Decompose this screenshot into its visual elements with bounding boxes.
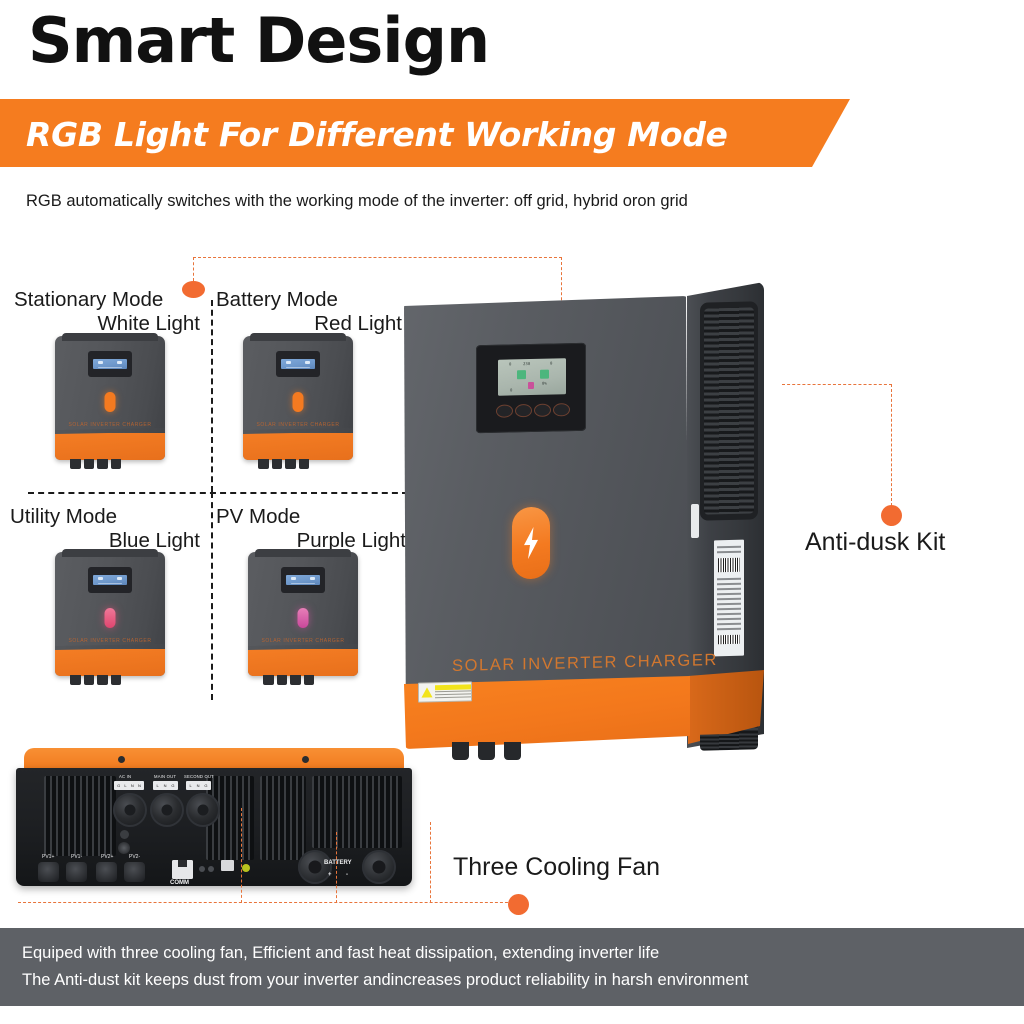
rear-terminal-ac-in: GLNN — [114, 781, 144, 790]
rear-connector-pv2p — [96, 862, 117, 882]
mini-lcd-row — [98, 583, 121, 584]
fan-callout-line-horizontal — [18, 902, 523, 903]
terminal-pin: L — [189, 781, 191, 790]
cooling-fan-2 — [150, 793, 184, 827]
mode-name-pv: PV Mode — [216, 505, 406, 529]
mini-led-indicator — [298, 608, 309, 628]
rear-label-battery: BATTERY — [324, 860, 352, 866]
inverter-control-panel: 0 230 0 0 0% — [476, 343, 586, 433]
rear-port-small-2 — [208, 866, 214, 872]
rear-label-pv1n: PV1- — [71, 854, 82, 860]
callout-line-antidusk-vertical — [891, 384, 892, 506]
rear-terminal-main-out: LNG — [153, 781, 178, 790]
terminal-pin: N — [131, 781, 134, 790]
mini-lcd-row — [286, 367, 309, 368]
mini-orange-strip — [243, 433, 353, 460]
mini-inverter-battery: SOLAR INVERTER CHARGER — [243, 336, 353, 460]
fan-callout-line-3 — [430, 822, 431, 903]
callout-dot-antidusk — [881, 505, 902, 526]
mini-brand-text: SOLAR INVERTER CHARGER — [55, 638, 165, 644]
mini-connectors — [258, 459, 309, 469]
mini-lcd-screen — [281, 359, 315, 370]
mini-connectors — [263, 675, 314, 685]
terminal-pin: N — [138, 781, 141, 790]
inverter-button-up[interactable] — [496, 404, 513, 417]
mode-name-utility: Utility Mode — [10, 505, 200, 529]
subtitle-text: RGB automatically switches with the work… — [26, 192, 688, 211]
mode-name-battery: Battery Mode — [216, 288, 402, 312]
product-spec-label — [714, 540, 744, 657]
mode-label-utility: Utility Mode Blue Light — [10, 505, 200, 553]
footer-line-1: Equiped with three cooling fan, Efficien… — [22, 940, 1024, 967]
rear-label-pv2p: PV2+ — [101, 854, 113, 860]
rear-port-ground — [120, 830, 129, 839]
rear-vent-mid2 — [260, 776, 306, 860]
rear-label-battery-negative: - — [346, 872, 348, 878]
mini-led-indicator — [105, 392, 116, 412]
quadrant-divider-horizontal — [28, 492, 408, 494]
quadrant-divider-vertical-top — [211, 300, 213, 492]
callout-line-top-left-vertical — [193, 257, 194, 281]
callout-line-antidusk — [782, 384, 892, 385]
rear-port-screw — [118, 842, 130, 854]
mini-brand-text: SOLAR INVERTER CHARGER — [243, 422, 353, 428]
inverter-side-tab — [691, 504, 699, 538]
mini-orange-strip — [55, 649, 165, 676]
rear-connector-pv1n — [66, 862, 87, 882]
warning-triangle-icon — [421, 686, 433, 698]
cooling-fan-3 — [186, 793, 220, 827]
mini-lcd-row — [291, 583, 314, 584]
mini-top-lip — [255, 549, 352, 557]
rear-label-ac-in: AC IN — [119, 774, 131, 779]
mode-label-pv: PV Mode Purple Light — [216, 505, 406, 553]
rear-port-dc — [221, 860, 234, 871]
terminal-pin: G — [117, 781, 120, 790]
main-inverter-product-image: 0 230 0 0 0% SOLAR INVERTER CHARGER — [404, 282, 764, 752]
mini-lcd-screen — [286, 575, 320, 586]
mini-connectors — [70, 459, 121, 469]
mode-label-battery: Battery Mode Red Light — [216, 288, 402, 336]
lightning-bolt-icon — [521, 527, 541, 559]
mini-inverter-stationary: SOLAR INVERTER CHARGER — [55, 336, 165, 460]
caution-text-block — [435, 684, 471, 700]
mini-lcd-frame — [88, 567, 132, 593]
mini-lcd-frame — [281, 567, 325, 593]
mini-lcd-frame — [88, 351, 132, 377]
rear-label-main-out: MAIN OUT — [154, 774, 176, 779]
terminal-pin: G — [204, 781, 207, 790]
rear-body: AC IN GLNN MAIN OUT LNG SECOND OUT LNG P… — [16, 768, 412, 886]
mini-orange-strip — [55, 433, 165, 460]
mini-lcd-row — [98, 367, 121, 368]
mini-lcd-screen — [93, 575, 127, 586]
rear-connector-pv2n — [124, 862, 145, 882]
terminal-pin: L — [156, 781, 158, 790]
mini-brand-text: SOLAR INVERTER CHARGER — [55, 422, 165, 428]
mini-top-lip — [62, 549, 159, 557]
terminal-pin: N — [164, 781, 167, 790]
mini-led-indicator — [105, 608, 116, 628]
mini-lcd-screen — [93, 359, 127, 370]
rear-label-pv2n: PV2- — [129, 854, 140, 860]
inverter-button-esc[interactable] — [534, 404, 551, 417]
rear-indicator-led — [242, 864, 250, 872]
rear-vent-right — [312, 776, 402, 848]
fan-callout-line-2 — [336, 832, 337, 903]
rear-terminal-second-out: LNG — [186, 781, 211, 790]
inverter-button-row[interactable] — [496, 403, 570, 418]
banner-title: RGB Light For Different Working Mode — [26, 115, 728, 154]
inverter-bottom-connectors — [452, 742, 562, 760]
rear-connector-pv1p — [38, 862, 59, 882]
inverter-rgb-led — [512, 507, 550, 580]
mode-name-stationary: Stationary Mode — [14, 288, 200, 312]
inverter-button-enter[interactable] — [553, 403, 570, 416]
mini-brand-text: SOLAR INVERTER CHARGER — [248, 638, 358, 644]
inverter-button-down[interactable] — [515, 404, 532, 417]
footer-line-2: The Anti-dust kit keeps dust from your i… — [22, 967, 1024, 994]
rear-label-comm: COMM — [170, 880, 189, 886]
mini-orange-strip — [248, 649, 358, 676]
rear-connector-rj45 — [172, 860, 193, 879]
quadrant-divider-vertical-bottom — [211, 492, 213, 700]
page-title: Smart Design — [28, 10, 489, 72]
callout-line-top-horizontal — [193, 257, 562, 258]
mini-lcd-frame — [276, 351, 320, 377]
callout-dot-cooling-fan — [508, 894, 529, 915]
footer-description-block: Equiped with three cooling fan, Efficien… — [0, 928, 1024, 1006]
fan-callout-line-1 — [241, 808, 242, 903]
rear-label-pv1p: PV1+ — [42, 854, 54, 860]
mini-inverter-utility: SOLAR INVERTER CHARGER — [55, 552, 165, 676]
mode-label-stationary: Stationary Mode White Light — [14, 288, 200, 336]
callout-anti-dusk-kit: Anti-dusk Kit — [805, 528, 945, 557]
terminal-pin: L — [124, 781, 126, 790]
callout-three-cooling-fan: Three Cooling Fan — [453, 853, 660, 882]
rear-battery-terminal-positive — [298, 850, 332, 884]
mini-inverter-pv: SOLAR INVERTER CHARGER — [248, 552, 358, 676]
infographic-canvas: Smart Design RGB Light For Different Wor… — [0, 0, 1024, 1024]
rear-panel-product-image: AC IN GLNN MAIN OUT LNG SECOND OUT LNG P… — [16, 748, 412, 893]
terminal-pin: G — [171, 781, 174, 790]
rear-vent-left — [44, 776, 116, 856]
rear-label-battery-positive: + — [328, 872, 332, 878]
rear-port-small-1 — [199, 866, 205, 872]
anti-dusk-vent-grille — [700, 301, 758, 520]
caution-warning-label — [418, 681, 472, 702]
rear-label-second-out: SECOND OUT — [184, 774, 214, 779]
mini-top-lip — [62, 333, 159, 341]
mini-connectors — [70, 675, 121, 685]
rear-orange-top — [24, 748, 404, 770]
terminal-pin: N — [197, 781, 200, 790]
inverter-bottom-vent — [700, 733, 758, 750]
inverter-lcd-screen: 0 230 0 0 0% — [498, 358, 566, 396]
rear-battery-terminal-negative — [362, 850, 396, 884]
mini-top-lip — [250, 333, 347, 341]
cooling-fan-1 — [113, 793, 147, 827]
mini-led-indicator — [293, 392, 304, 412]
